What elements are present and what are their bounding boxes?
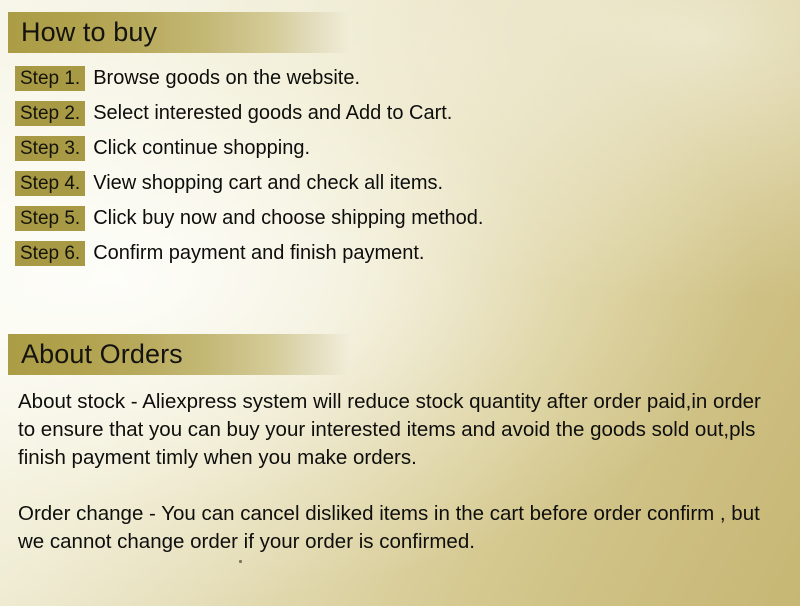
step-text: Select interested goods and Add to Cart. xyxy=(85,101,452,126)
step-badge: Step 2. xyxy=(15,101,85,126)
step-row: Step 5. Click buy now and choose shippin… xyxy=(15,206,483,231)
about-orders-body: About stock - Aliexpress system will red… xyxy=(18,388,783,556)
info-banner: How to buy Step 1. Browse goods on the w… xyxy=(0,0,800,606)
step-row: Step 4. View shopping cart and check all… xyxy=(15,171,483,196)
about-orders-title: About Orders xyxy=(8,341,183,368)
about-stock-paragraph: About stock - Aliexpress system will red… xyxy=(18,388,783,472)
steps-list: Step 1. Browse goods on the website. Ste… xyxy=(15,66,483,276)
step-badge: Step 5. xyxy=(15,206,85,231)
step-text: Click continue shopping. xyxy=(85,136,310,161)
step-row: Step 3. Click continue shopping. xyxy=(15,136,483,161)
step-badge: Step 4. xyxy=(15,171,85,196)
step-badge: Step 6. xyxy=(15,241,85,266)
step-row: Step 2. Select interested goods and Add … xyxy=(15,101,483,126)
section-header-about-orders: About Orders xyxy=(8,334,350,375)
step-text: Browse goods on the website. xyxy=(85,66,360,91)
order-change-paragraph: Order change - You can cancel disliked i… xyxy=(18,500,783,556)
step-text: Confirm payment and finish payment. xyxy=(85,241,424,266)
step-badge: Step 1. xyxy=(15,66,85,91)
step-text: Click buy now and choose shipping method… xyxy=(85,206,483,231)
how-to-buy-title: How to buy xyxy=(8,19,157,46)
step-badge: Step 3. xyxy=(15,136,85,161)
scan-speck-artifact xyxy=(239,560,242,563)
section-header-how-to-buy: How to buy xyxy=(8,12,350,53)
banner-content: How to buy Step 1. Browse goods on the w… xyxy=(0,0,800,606)
step-row: Step 6. Confirm payment and finish payme… xyxy=(15,241,483,266)
step-text: View shopping cart and check all items. xyxy=(85,171,443,196)
step-row: Step 1. Browse goods on the website. xyxy=(15,66,483,91)
